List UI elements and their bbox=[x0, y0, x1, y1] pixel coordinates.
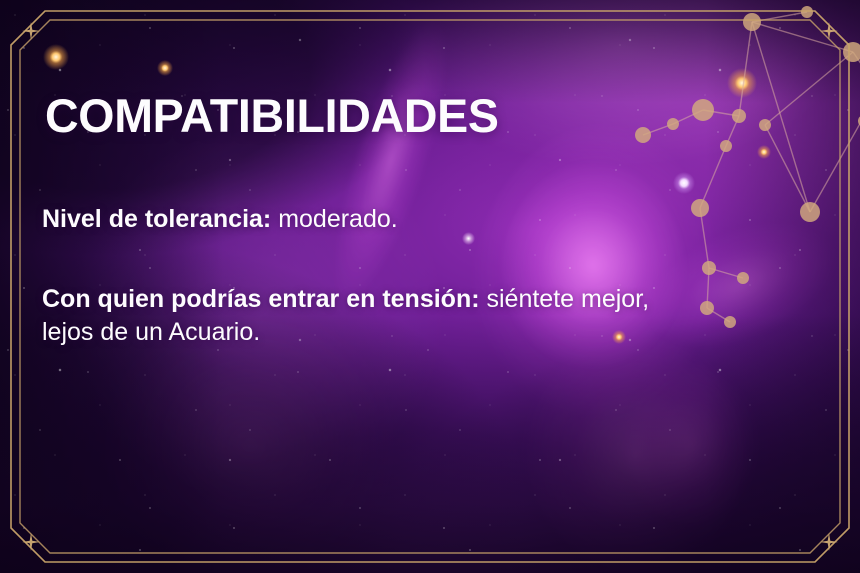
constellation-star bbox=[743, 13, 761, 31]
constellation-star bbox=[667, 118, 679, 130]
tension-label: Con quien podrías entrar en tensión: bbox=[42, 285, 480, 313]
tension-value-continued: lejos de un Acuario. bbox=[42, 318, 260, 346]
constellation-star bbox=[720, 140, 732, 152]
constellation-star bbox=[700, 301, 714, 315]
tolerance-line: Nivel de tolerancia: moderado. bbox=[42, 203, 398, 236]
constellation-star bbox=[691, 199, 709, 217]
constellation-star bbox=[702, 261, 716, 275]
glow-star bbox=[612, 330, 626, 344]
constellation-star bbox=[732, 109, 746, 123]
tolerance-label: Nivel de tolerancia: bbox=[42, 205, 271, 233]
page-title: COMPATIBILIDADES bbox=[45, 92, 499, 139]
constellation-star bbox=[759, 119, 771, 131]
constellation-star bbox=[724, 316, 736, 328]
constellation-star bbox=[800, 202, 820, 222]
glow-star bbox=[462, 232, 475, 245]
tolerance-value: moderado. bbox=[271, 205, 397, 233]
tension-line-continued: lejos de un Acuario. bbox=[42, 316, 260, 349]
compatibility-card: COMPATIBILIDADES Nivel de tolerancia: mo… bbox=[0, 0, 860, 573]
glow-star bbox=[157, 60, 173, 76]
glow-star bbox=[43, 44, 69, 70]
constellation-star bbox=[635, 127, 651, 143]
constellation-star bbox=[801, 6, 813, 18]
aquarius-constellation bbox=[600, 0, 860, 330]
constellation-star bbox=[692, 99, 714, 121]
tension-line: Con quien podrías entrar en tensión: sié… bbox=[42, 283, 649, 316]
tension-value: siéntete mejor, bbox=[480, 285, 650, 313]
constellation-star bbox=[737, 272, 749, 284]
